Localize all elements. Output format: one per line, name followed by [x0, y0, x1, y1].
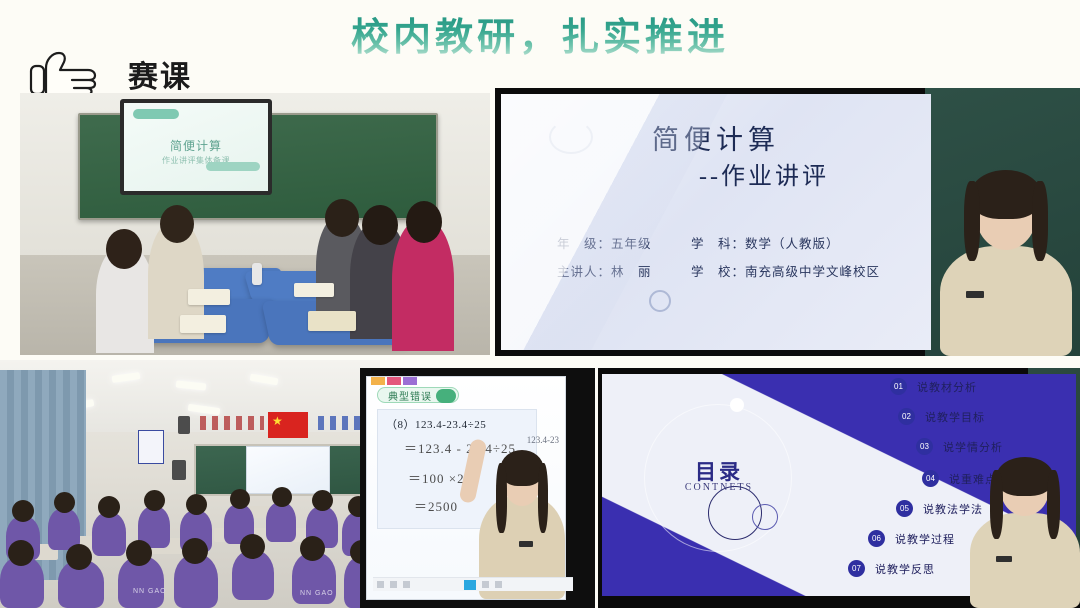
wall-banner [200, 416, 264, 430]
notebook [180, 315, 226, 333]
item-label: 说教材分析 [917, 379, 977, 395]
meta-label-subject: 学 科： [691, 237, 745, 251]
slide-tabs [371, 377, 417, 385]
title-slide: 简便计算 --作业讲评 年 级：五年级 学 科：数学（人教版） 主讲人：林 丽 … [501, 94, 931, 350]
problem-statement: （8）123.4-23.4÷25 [386, 416, 486, 432]
contents-item-06[interactable]: 06 说教学过程 [868, 530, 955, 547]
item-number: 03 [916, 438, 933, 455]
video-lesson-title-slide: 简便计算 --作业讲评 年 级：五年级 学 科：数学（人教版） 主讲人：林 丽 … [495, 88, 1080, 356]
wall-speaker [178, 416, 190, 434]
decoration-dot-icon [730, 398, 744, 412]
meta-value-speaker: 林 丽 [611, 265, 652, 279]
slide-meta: 年 级：五年级 学 科：数学（人教版） 主讲人：林 丽 学 校：南充高级中学文峰… [525, 230, 925, 286]
item-number: 07 [848, 560, 865, 577]
solution-step-3: ＝2500 [414, 496, 458, 515]
seated-teacher [96, 245, 154, 353]
video-whiteboard-error-analysis: 典型错误 （8）123.4-23.4÷25 ＝123.4 - 23.4÷25 ＝… [360, 368, 595, 608]
notebook [308, 311, 356, 331]
classroom: ★ [0, 360, 380, 608]
contents-item-01[interactable]: 01 说教材分析 [890, 378, 977, 395]
notebook [294, 283, 334, 297]
meta-value-grade: 五年级 [611, 237, 652, 251]
uniform-school-tag: NN GAO [133, 588, 167, 595]
china-flag: ★ [268, 412, 308, 438]
flag-star-icon: ★ [272, 416, 283, 427]
screen-title: 简便计算 [124, 137, 268, 154]
contents-item-07[interactable]: 07 说教学反思 [848, 560, 935, 577]
screen-logo [133, 109, 179, 119]
presentation-screen: 简便计算 作业讲评集体备课 [120, 99, 272, 195]
slide-subtitle: --作业讲评 [501, 156, 931, 191]
item-number: 04 [922, 470, 939, 487]
typical-error-badge: 典型错误 [377, 387, 459, 403]
meta-label-school: 学 校： [691, 265, 745, 279]
item-label: 说教学目标 [925, 409, 985, 425]
photo-classroom: ★ [0, 360, 380, 608]
name-badge [519, 541, 533, 547]
decoration-ring-icon [549, 120, 593, 154]
decoration-ring-icon [752, 504, 778, 530]
whiteboard: 典型错误 （8）123.4-23.4÷25 ＝123.4 - 23.4÷25 ＝… [366, 376, 566, 600]
whiteboard-toolbar [373, 577, 573, 591]
seated-teacher [392, 219, 454, 351]
meta-label-speaker: 主讲人： [557, 265, 611, 279]
video-contents-slide: 目录 CONTNETS 01 说教材分析 02 说教学目标 03 说学情分析 0… [598, 368, 1080, 608]
meeting-room: 简便计算 作业讲评集体备课 [20, 93, 490, 355]
badge-accent-icon [436, 389, 456, 403]
notebook [188, 289, 230, 305]
slide-title: 简便计算 [501, 118, 931, 157]
teacher-figure [479, 433, 565, 599]
decoration-ring-icon [649, 290, 671, 312]
active-tool-icon [464, 580, 476, 590]
item-number: 06 [868, 530, 885, 547]
meta-value-school: 南充高级中学文峰校区 [745, 265, 880, 279]
meta-label-grade: 年 级： [557, 237, 611, 251]
name-badge [966, 291, 984, 298]
wall-poster [138, 430, 164, 464]
screen-tag [206, 162, 260, 171]
teacher-figure [970, 444, 1080, 608]
section-label: 赛课 [128, 52, 192, 96]
contents-subtitle: CONTNETS [656, 482, 782, 493]
item-number: 01 [890, 378, 907, 395]
meta-value-subject: 数学（人教版） [745, 237, 840, 251]
item-label: 说教学反思 [875, 561, 935, 577]
teacher-figure [940, 166, 1072, 356]
water-bottle [252, 263, 262, 285]
item-number: 05 [896, 500, 913, 517]
wall-speaker [172, 460, 186, 480]
contents-item-02[interactable]: 02 说教学目标 [898, 408, 985, 425]
badge-label: 典型错误 [378, 388, 432, 403]
uniform-school-tag: NN GAO [300, 590, 334, 597]
slide-canvas: 校内教研，扎实推进 赛课 简便计算 作业讲评集体备课 [0, 0, 1080, 608]
item-number: 02 [898, 408, 915, 425]
classroom-projector-screen [246, 446, 330, 494]
name-badge [996, 556, 1012, 562]
photo-group-lesson-prep: 简便计算 作业讲评集体备课 [20, 93, 490, 355]
item-label: 说教学过程 [895, 531, 955, 547]
